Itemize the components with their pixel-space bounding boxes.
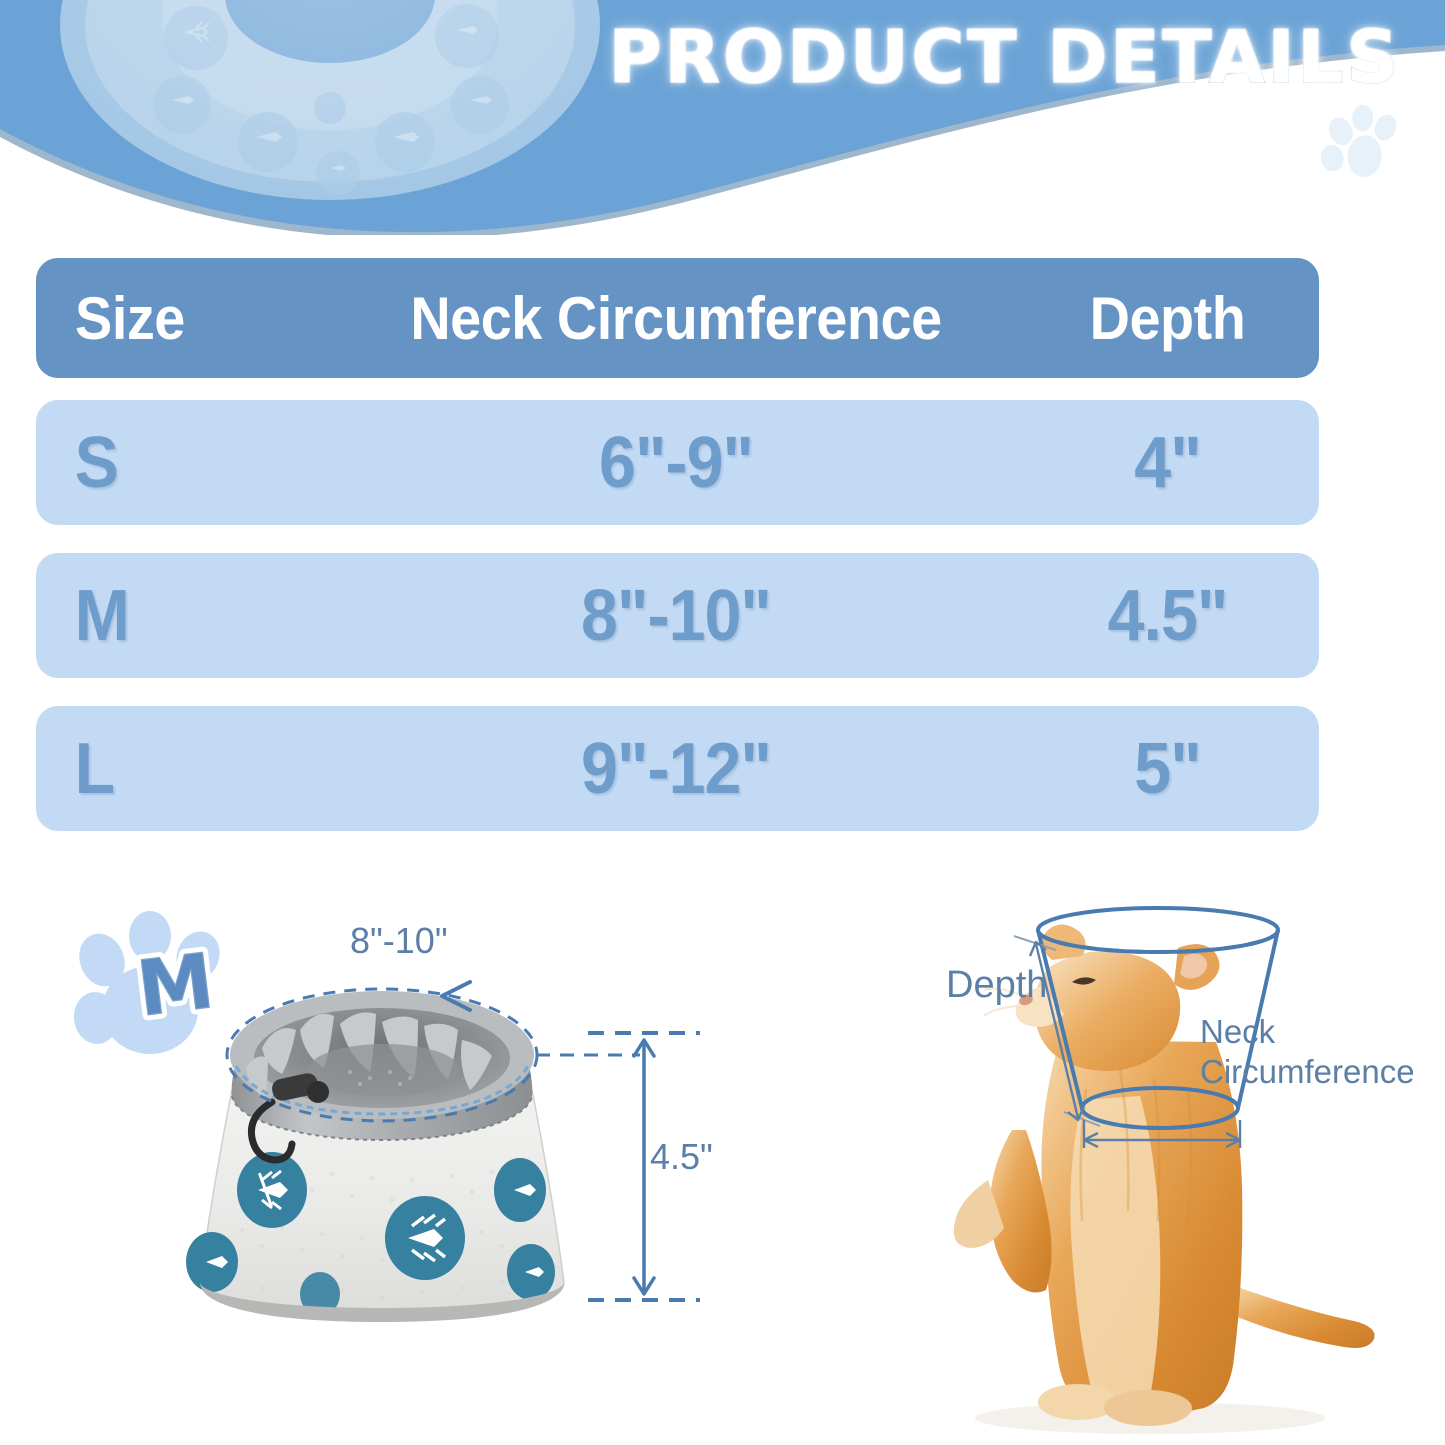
table-row: M 8"-10" 4.5" [36, 553, 1319, 678]
column-header-neck-circumference: Neck Circumference [360, 284, 992, 353]
neck-label-line1: Neck [1200, 1013, 1275, 1050]
cell-size: M [36, 575, 312, 657]
neck-label-line2: Circumference [1200, 1053, 1415, 1090]
cat-diagram-labels: Depth Neck Circumference [920, 890, 1445, 1190]
neck-circumference-label: Neck Circumference [1200, 1012, 1415, 1092]
table-row: S 6"-9" 4" [36, 400, 1319, 525]
paw-badge-size-m: M M [71, 911, 227, 1054]
column-header-depth: Depth [1027, 284, 1309, 353]
header-banner: PRODUCT DETAILS [0, 0, 1445, 235]
cell-size: S [36, 422, 312, 504]
cell-neck-circumference: 8"-10" [363, 575, 989, 657]
size-chart-table: Size Neck Circumference Depth S 6"-9" 4"… [36, 258, 1319, 859]
page-title: PRODUCT DETAILS [575, 14, 1435, 100]
cell-neck-circumference: 9"-12" [363, 728, 989, 810]
cell-neck-circumference: 6"-9" [363, 422, 989, 504]
recovery-cone-icon [186, 991, 564, 1322]
neck-measure-label: 8"-10" [350, 920, 448, 962]
cell-depth: 5" [1028, 728, 1307, 810]
svg-text:M: M [132, 936, 218, 1034]
product-details-infographic: PRODUCT DETAILS Size Neck Circumference … [0, 0, 1445, 1445]
column-header-size: Size [36, 284, 315, 353]
cell-size: L [36, 728, 312, 810]
depth-label: Depth [946, 964, 1047, 1007]
depth-measure-label: 4.5" [650, 1136, 713, 1178]
table-header-row: Size Neck Circumference Depth [36, 258, 1319, 378]
table-row: L 9"-12" 5" [36, 706, 1319, 831]
cell-depth: 4.5" [1028, 575, 1307, 657]
cell-depth: 4" [1028, 422, 1307, 504]
